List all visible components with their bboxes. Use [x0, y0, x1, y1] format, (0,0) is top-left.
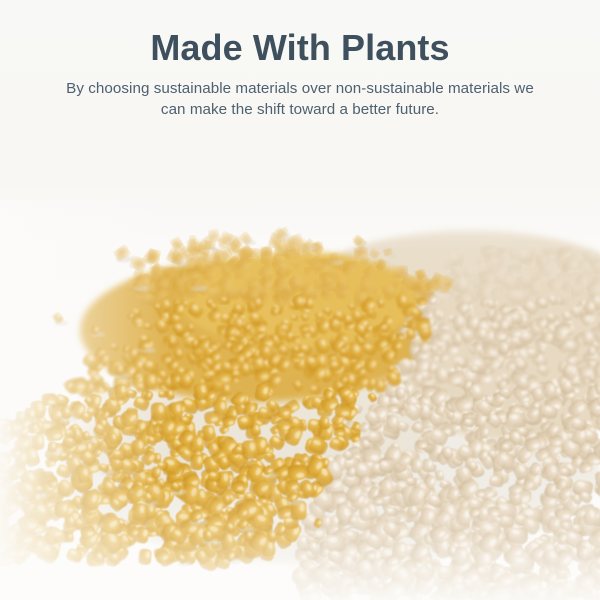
page-title: Made With Plants: [0, 0, 600, 67]
header-block: Made With Plants By choosing sustainable…: [0, 0, 600, 220]
page-subtitle: By choosing sustainable materials over n…: [65, 78, 535, 121]
poster-canvas: Made With Plants By choosing sustainable…: [0, 0, 600, 600]
